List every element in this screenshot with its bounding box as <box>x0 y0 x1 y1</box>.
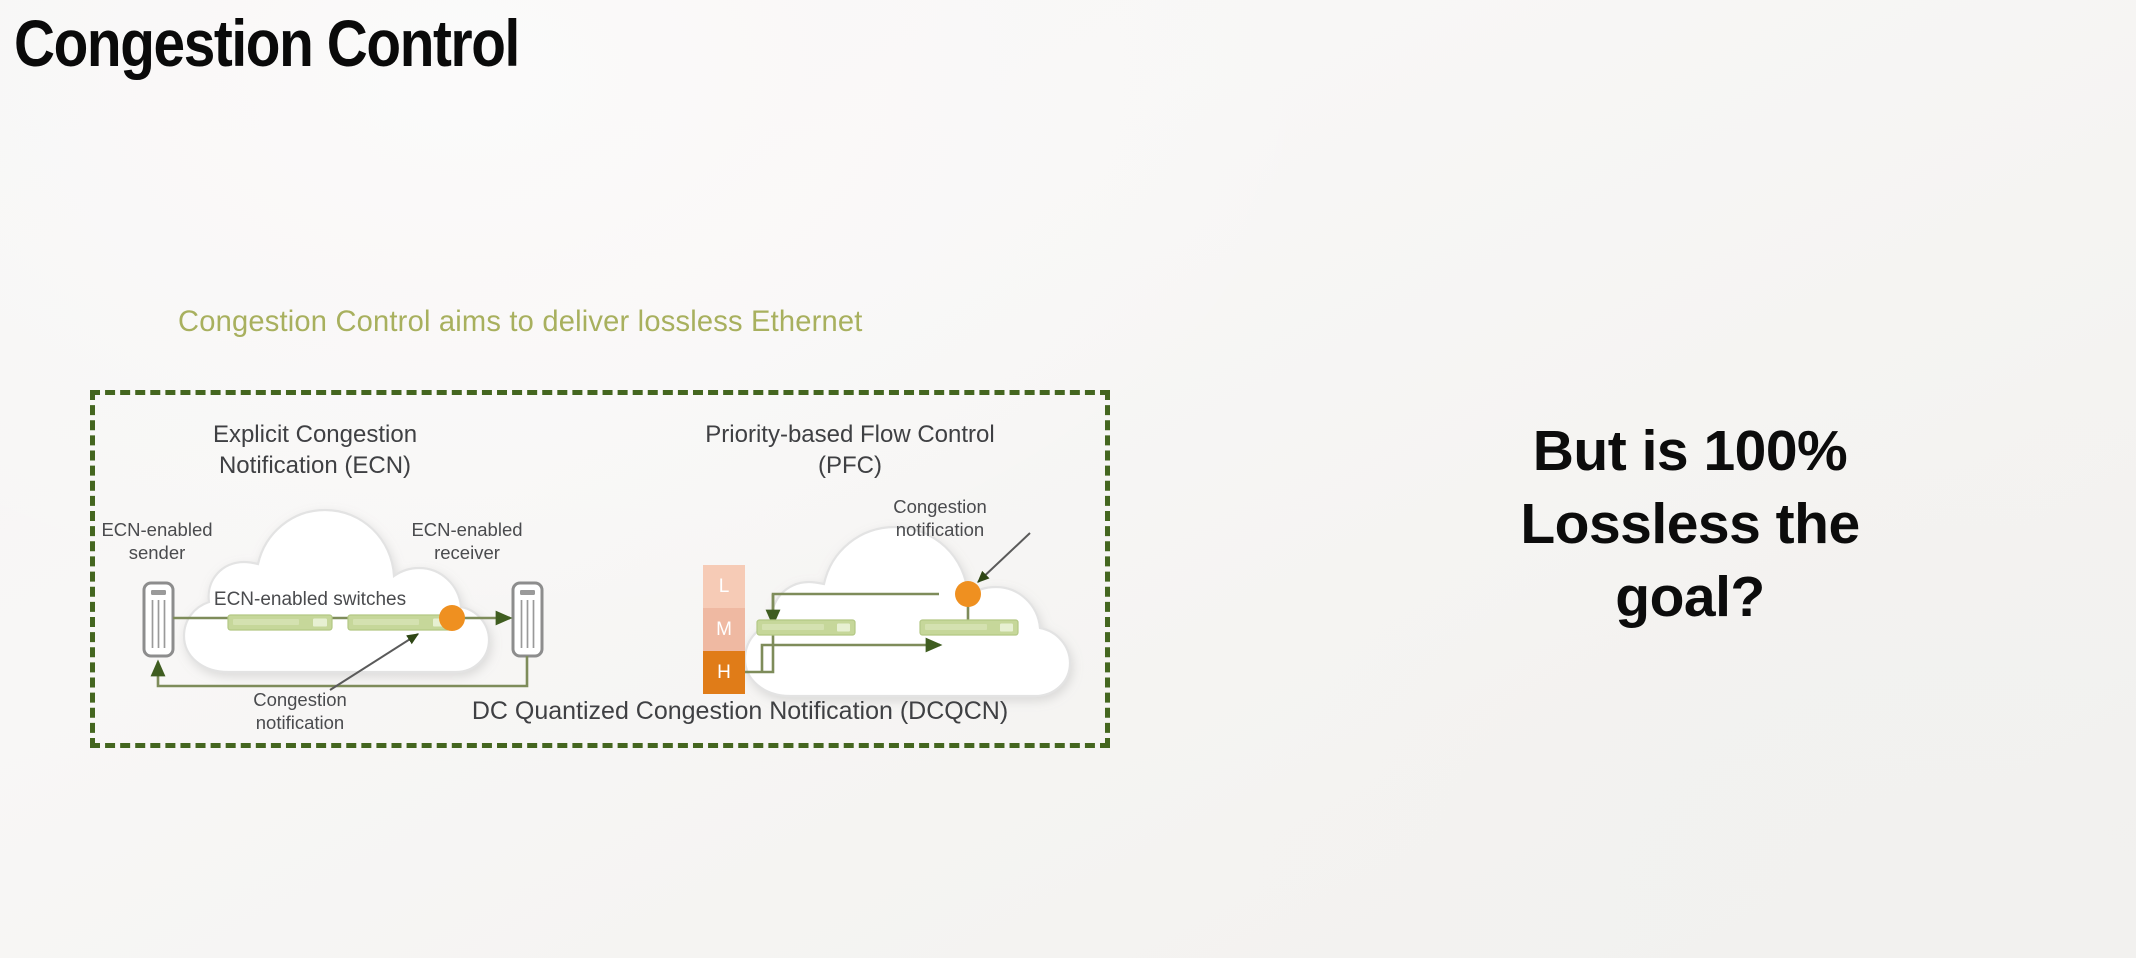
page-title: Congestion Control <box>14 6 519 82</box>
pfc-heading: Priority-based Flow Control (PFC) <box>650 420 1050 481</box>
ecn-heading: Explicit Congestion Notification (ECN) <box>150 420 480 481</box>
question-line-1: But is 100% <box>1460 415 1920 488</box>
question-line-2: Lossless the <box>1460 488 1920 561</box>
pfc-congestion-notification-label: Congestion notification <box>850 495 1030 542</box>
question-block: But is 100% Lossless the goal? <box>1460 415 1920 634</box>
ecn-receiver-label: ECN-enabled receiver <box>392 518 542 565</box>
slide-canvas: Congestion Control Congestion Control ai… <box>0 0 2136 958</box>
question-line-3: goal? <box>1460 561 1920 634</box>
slide-subtitle: Congestion Control aims to deliver lossl… <box>178 305 863 339</box>
pfc-priority-medium: M <box>703 608 745 651</box>
dcqcn-caption: DC Quantized Congestion Notification (DC… <box>430 697 1050 726</box>
pfc-priority-high: H <box>703 651 745 694</box>
pfc-priority-low: L <box>703 565 745 608</box>
ecn-congestion-notification-label: Congestion notification <box>210 688 390 735</box>
ecn-switches-label: ECN-enabled switches <box>195 588 425 612</box>
ecn-sender-label: ECN-enabled sender <box>82 518 232 565</box>
